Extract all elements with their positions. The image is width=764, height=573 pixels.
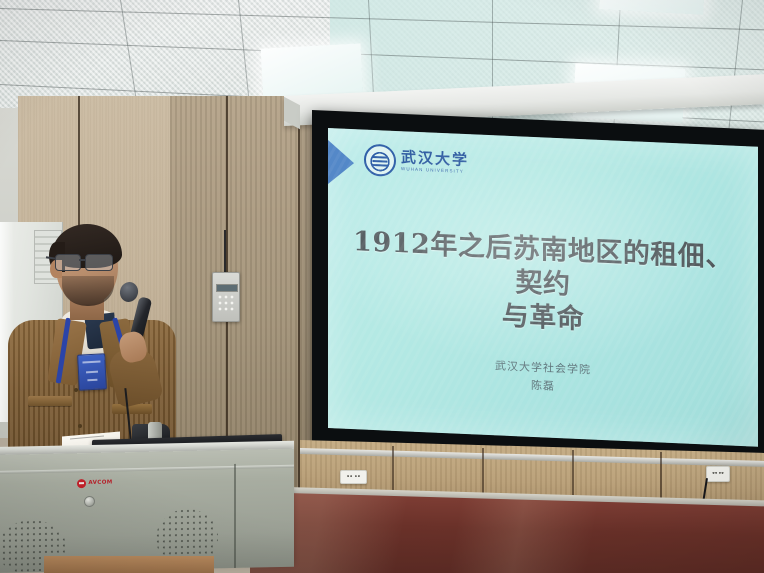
glasses-lens-left [55, 254, 81, 271]
lectern-brand-logo: AVCOM [69, 476, 121, 489]
floor-reflection [250, 492, 764, 573]
jacket-button [74, 388, 78, 392]
blue-triangle-decoration [328, 140, 354, 185]
name-badge [77, 353, 107, 390]
lecture-hall-photo: 武汉大学 WUHAN UNIVERSITY 1912年之后苏南地区的租佃、契约 … [0, 0, 764, 573]
projection-screen: 武汉大学 WUHAN UNIVERSITY 1912年之后苏南地区的租佃、契约 … [312, 110, 764, 455]
badge-text-line [86, 371, 98, 374]
brand-logo-text: AVCOM [88, 480, 112, 487]
stage-floor [250, 492, 764, 573]
slide-title: 1912年之后苏南地区的租佃、契约 与革命 [346, 225, 740, 343]
slide-subtitle: 武汉大学社会学院 陈磊 [346, 351, 740, 403]
power-outlet[interactable] [706, 466, 730, 482]
glasses-lens-right [85, 254, 113, 271]
keypad-buttons[interactable] [217, 294, 235, 316]
university-logo: 武汉大学 WUHAN UNIVERSITY [364, 144, 469, 181]
outlet-holes [344, 474, 363, 480]
badge-text-line [82, 361, 100, 364]
keypad-display [216, 284, 238, 292]
lectern-rail [0, 465, 294, 474]
lectern-lock-icon[interactable] [84, 496, 95, 507]
wall-keypad-panel[interactable] [212, 272, 240, 322]
badge-text-line [87, 379, 97, 382]
lectern: AVCOM [0, 449, 294, 573]
wall-panel-seam [298, 96, 300, 496]
power-outlet[interactable] [340, 470, 367, 484]
jacket-pocket-left [28, 396, 72, 406]
keypad-wire [224, 230, 226, 274]
university-name-cn: 武汉大学 [401, 150, 469, 168]
microphone-icon [118, 280, 140, 304]
glasses-icon [55, 254, 121, 269]
outlet-holes [710, 470, 726, 478]
lectern-door-seam [234, 464, 236, 568]
whu-seal-icon [364, 144, 396, 177]
brand-mark-icon [77, 479, 86, 488]
jacket-button [78, 424, 82, 428]
glasses-bridge [79, 259, 86, 261]
lectern-wood-base [44, 556, 214, 573]
university-name-en: WUHAN UNIVERSITY [401, 167, 464, 174]
presentation-slide: 武汉大学 WUHAN UNIVERSITY 1912年之后苏南地区的租佃、契约 … [328, 128, 758, 447]
